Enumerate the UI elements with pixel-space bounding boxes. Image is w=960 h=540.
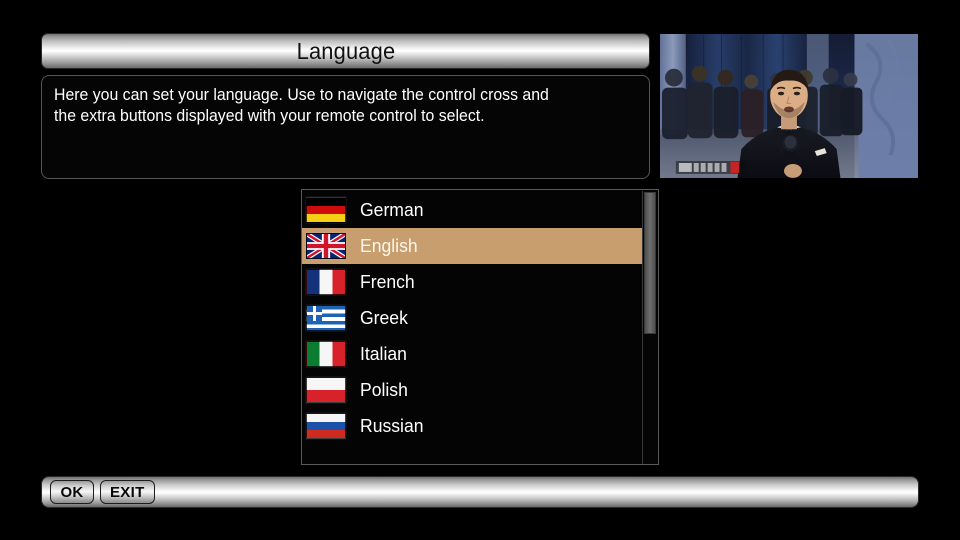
language-label: Greek (360, 307, 408, 329)
button-label: OK (60, 484, 83, 501)
flag-poland-icon (306, 377, 346, 403)
language-label: German (360, 199, 423, 221)
ok-button[interactable]: OK (50, 480, 94, 504)
language-label: Italian (360, 343, 407, 365)
language-label: Russian (360, 415, 424, 437)
language-row-french[interactable]: French (302, 264, 642, 300)
language-row-italian[interactable]: Italian (302, 336, 642, 372)
flag-italy-icon (306, 341, 346, 367)
language-row-german[interactable]: German (302, 192, 642, 228)
flag-france-icon (306, 269, 346, 295)
language-list-panel[interactable]: GermanEnglishFrenchGreekItalianPolishRus… (301, 189, 659, 465)
video-preview[interactable] (659, 33, 919, 179)
language-label: French (360, 271, 415, 293)
flag-germany-icon (306, 197, 346, 223)
help-text-box: Here you can set your language. Use to n… (41, 75, 650, 179)
language-list: GermanEnglishFrenchGreekItalianPolishRus… (302, 192, 642, 444)
flag-russia-icon (306, 413, 346, 439)
language-row-polish[interactable]: Polish (302, 372, 642, 408)
news-channel-watermark (676, 161, 745, 174)
page-title-bar: Language (41, 33, 650, 69)
list-scrollbar-thumb[interactable] (644, 192, 656, 334)
language-label: Polish (360, 379, 408, 401)
language-row-russian[interactable]: Russian (302, 408, 642, 444)
language-row-english[interactable]: English (302, 228, 642, 264)
video-preview-frame (660, 34, 918, 179)
footer-button-bar: OKEXIT (41, 476, 919, 508)
help-text: Here you can set your language. Use to n… (54, 85, 614, 127)
tv-settings-screen: Language Here you can set your language.… (0, 0, 960, 540)
flag-greece-icon (306, 305, 346, 331)
exit-button[interactable]: EXIT (100, 480, 155, 504)
page-title: Language (296, 38, 395, 65)
list-scrollbar-track[interactable] (642, 191, 656, 465)
language-label: English (360, 235, 418, 257)
language-row-greek[interactable]: Greek (302, 300, 642, 336)
button-label: EXIT (110, 484, 145, 501)
flag-united-kingdom-icon (306, 233, 346, 259)
